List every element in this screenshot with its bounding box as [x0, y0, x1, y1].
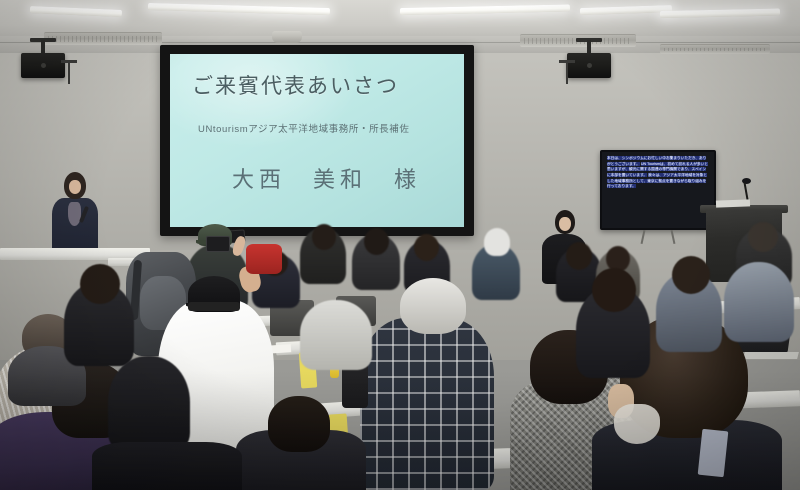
audience-head: [566, 242, 592, 270]
presenter-face: [69, 180, 81, 194]
audience-head: [414, 234, 439, 261]
wall-bracket: [566, 62, 568, 84]
wall-bracket-arm: [559, 60, 575, 63]
audience-member: [300, 300, 372, 370]
speaker-pole: [41, 40, 45, 54]
shirt-collar: [698, 429, 729, 477]
projection-screen: ご来賓代表あいさつ UNtourismアジア太平洋地域事務所・所長補佐 大西 美…: [160, 45, 474, 236]
presenter-head: [64, 172, 86, 199]
face-mask: [614, 404, 660, 444]
wall-bracket-arm: [61, 60, 77, 63]
cap-band: [188, 302, 240, 311]
caption-monitor: 本日は、シンポジウムにお忙しい中お集まりいただき、ありがとうございます。 UN …: [600, 150, 716, 230]
audience-head: [268, 396, 330, 452]
monitor-stand: [638, 230, 678, 244]
audience-member-plaid: [360, 318, 494, 490]
ceiling-vent: [44, 32, 162, 45]
slide-subtitle: UNtourismアジア太平洋地域事務所・所長補佐: [198, 121, 410, 135]
caption-monitor-text: 本日は、シンポジウムにお忙しい中お集まりいただき、ありがとうございます。 UN …: [607, 156, 709, 190]
audience-head: [364, 228, 389, 255]
audience-head: [80, 264, 120, 304]
audience-head: [592, 268, 636, 312]
conference-room-photo: ご来賓代表あいさつ UNtourismアジア太平洋地域事務所・所長補佐 大西 美…: [0, 0, 800, 490]
audience-head: [748, 222, 778, 252]
audience-head-gray: [400, 278, 466, 334]
smoke-detector: [272, 31, 302, 43]
wall-bracket: [68, 62, 70, 84]
slide-surface: ご来賓代表あいさつ UNtourismアジア太平洋地域事務所・所長補佐 大西 美…: [170, 54, 464, 227]
presenter-shirt: [68, 202, 81, 226]
podium-paper: [716, 199, 750, 207]
audience-head: [484, 228, 510, 256]
ceiling-speaker: [567, 53, 611, 78]
audience-head: [312, 224, 336, 250]
guest-speaker-head: [555, 210, 575, 234]
ceiling-vent: [660, 44, 770, 54]
slide-title: ご来賓代表あいさつ: [192, 70, 399, 100]
red-bag: [246, 244, 282, 274]
audience-member: [92, 442, 242, 490]
guest-speaker-face: [559, 217, 571, 231]
speaker-pole: [587, 40, 591, 54]
audience-head: [672, 256, 710, 294]
audience-member: [724, 262, 794, 342]
slide-guest-name: 大西 美和 様: [232, 162, 421, 194]
ceiling-speaker: [21, 53, 65, 78]
audience-member: [108, 356, 190, 452]
smartphone-raised: [206, 236, 230, 252]
laptop-base: [743, 352, 799, 359]
